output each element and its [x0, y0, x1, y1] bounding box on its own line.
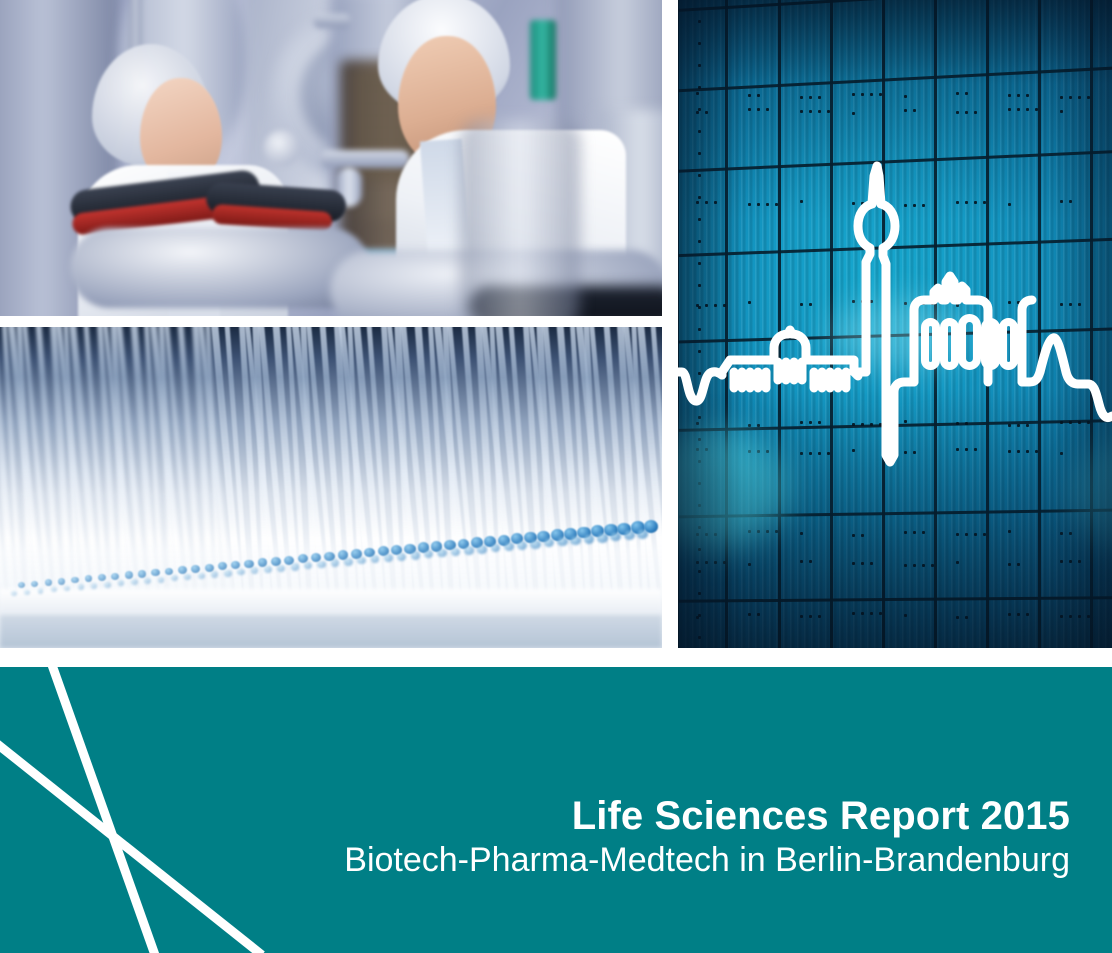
report-cover-page: Life Sciences Report 2015 Biotech-Pharma…: [0, 0, 1112, 953]
photo-scientists: [0, 0, 662, 316]
page-subtitle: Biotech-Pharma-Medtech in Berlin-Branden…: [344, 843, 1070, 879]
photo-berlin-ecg-skyline: [678, 0, 1112, 648]
photo-ampoules: [0, 327, 662, 648]
berlin-skyline-ecg-path: [678, 0, 1112, 648]
page-title: Life Sciences Report 2015: [344, 795, 1070, 837]
title-band: Life Sciences Report 2015 Biotech-Pharma…: [0, 667, 1112, 953]
title-block: Life Sciences Report 2015 Biotech-Pharma…: [344, 795, 1070, 879]
